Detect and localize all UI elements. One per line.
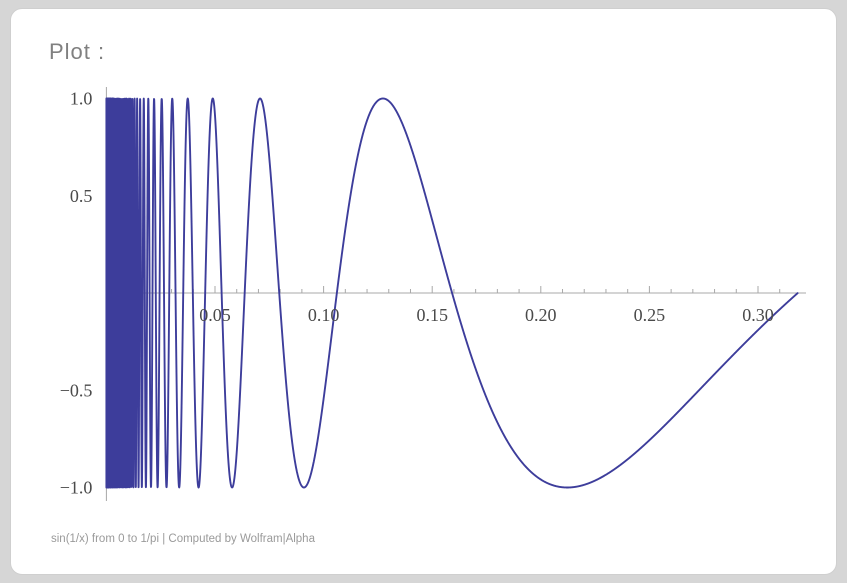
- x-tick-label: 0.25: [634, 305, 666, 325]
- plot-card: Plot : 0.050.100.150.200.250.301.00.5−0.…: [10, 8, 837, 575]
- x-tick-label: 0.05: [199, 305, 231, 325]
- y-tick-label: −1.0: [60, 478, 93, 498]
- x-tick-label: 0.30: [742, 305, 774, 325]
- x-tick-label: 0.15: [416, 305, 448, 325]
- y-tick-label: 0.5: [70, 186, 93, 206]
- plot-figure: 0.050.100.150.200.250.301.00.5−0.5−1.0: [11, 9, 837, 575]
- axes-layer: [106, 87, 806, 501]
- x-tick-label: 0.20: [525, 305, 557, 325]
- x-tick-label: 0.10: [308, 305, 340, 325]
- y-tick-label: −0.5: [60, 380, 93, 400]
- y-tick-label: 1.0: [70, 89, 93, 109]
- plot-caption: sin(1/x) from 0 to 1/pi | Computed by Wo…: [51, 533, 315, 545]
